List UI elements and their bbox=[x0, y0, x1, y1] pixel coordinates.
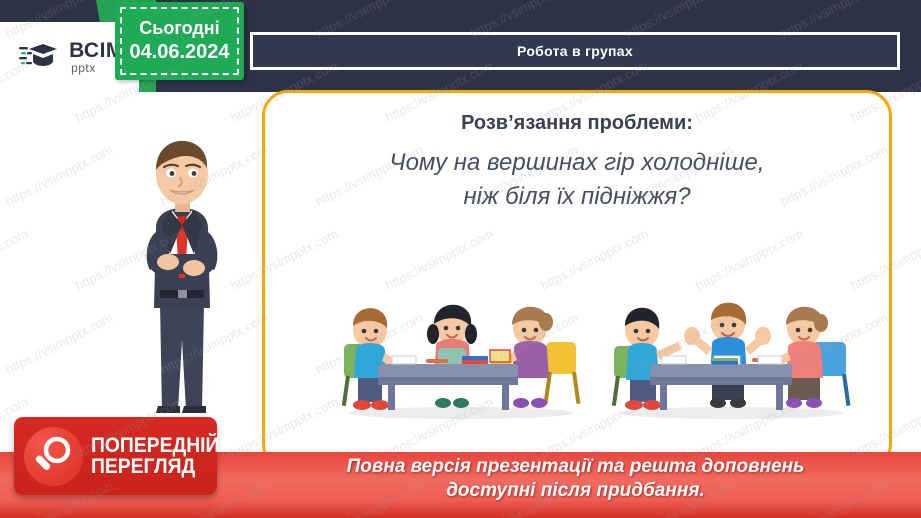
purchase-banner-text: Повна версія презентації та решта доповн… bbox=[230, 455, 921, 504]
presentation-slide: ВСІМ pptx Сьогодні 04.06.2024 Робота в г… bbox=[0, 0, 921, 518]
date-tag: Сьогодні 04.06.2024 bbox=[115, 2, 244, 80]
kids-group-right-illustration bbox=[600, 298, 862, 420]
magnifier-icon bbox=[24, 427, 83, 486]
slide-header-bar: Робота в групах bbox=[250, 32, 900, 70]
problem-title: Розв’язання проблеми: bbox=[262, 112, 892, 135]
graduation-cap-icon bbox=[19, 40, 65, 74]
watermark-text: https://vsimpptx.com bbox=[3, 310, 115, 377]
businessman-illustration bbox=[112, 128, 252, 428]
preview-badge[interactable]: ПОПЕРЕДНІЙ ПЕРЕГЛЯД bbox=[14, 417, 217, 495]
watermark-text: https://vsimpptx.com bbox=[0, 226, 30, 293]
date-label: Сьогодні bbox=[139, 17, 219, 40]
banner-line-2: доступні після придбання. bbox=[230, 479, 921, 503]
question-line-2: ніж біля їх підніжжя? bbox=[262, 180, 892, 214]
problem-question: Чому на вершинах гір холодніше, ніж біля… bbox=[262, 146, 892, 214]
question-line-1: Чому на вершинах гір холодніше, bbox=[262, 146, 892, 180]
page-title: Робота в групах bbox=[517, 43, 633, 59]
date-value: 04.06.2024 bbox=[129, 40, 229, 65]
preview-badge-line-1: ПОПЕРЕДНІЙ bbox=[91, 435, 219, 456]
preview-badge-line-2: ПЕРЕГЛЯД bbox=[91, 456, 219, 477]
watermark-text: https://vsimpptx.com bbox=[3, 142, 115, 209]
kids-group-left-illustration bbox=[330, 298, 592, 420]
banner-line-1: Повна версія презентації та решта доповн… bbox=[230, 455, 921, 479]
